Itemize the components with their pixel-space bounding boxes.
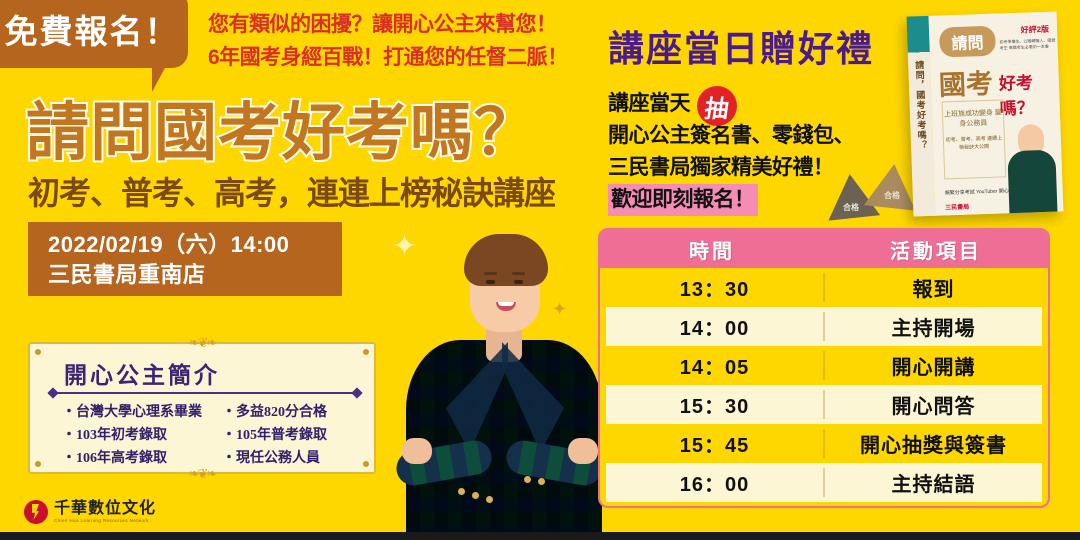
book-panel-line-1: 上班族成功變身 變身公務員 bbox=[943, 108, 1004, 130]
table-row: 14：00 主持開場 bbox=[606, 307, 1042, 346]
speaker-profile-card: ❧❦❧ ❧❦❧ 開心公主簡介 ‧台灣大學心理系畢業 ‧多益820分合格 ‧103… bbox=[28, 342, 376, 474]
body bbox=[1007, 150, 1057, 214]
event-datetime-box: 2022/02/19（六）14:00 三民書局重南店 bbox=[28, 222, 342, 296]
book-edition-badge: 好評2版 bbox=[1020, 24, 1049, 36]
table-row: 13：30 報到 bbox=[606, 268, 1042, 307]
bottom-bar bbox=[0, 532, 1080, 540]
hook-line-2: 6年國考身經百戰！打通您的任督二脈！ bbox=[208, 41, 598, 74]
book-cover-image: 請問，國考好考嗎？ 請問 好評2版 初考準備生、公職轉職人、國營考生 高職考生必… bbox=[907, 11, 1064, 216]
book-panel-line-2: 初考、普考、高考 連續上榜秘訣大公開 bbox=[944, 134, 1005, 152]
list-item: ‧103年初考錄取 bbox=[62, 425, 222, 447]
gift-heading: 講座當日贈好禮 bbox=[608, 20, 874, 72]
promo-banner: 免費報名！ 您有類似的困擾？讓開心公主來幫您！ 6年國考身經百戰！打通您的任督二… bbox=[0, 0, 1080, 540]
eyebrow-right bbox=[512, 272, 525, 275]
event-datetime: 2022/02/19（六）14:00 bbox=[48, 230, 342, 260]
hook-text-block: 您有類似的困擾？讓開心公主來幫您！ 6年國考身經百戰！打通您的任督二脈！ bbox=[208, 8, 598, 74]
gift-line-1: 講座當天 bbox=[608, 88, 690, 120]
button-icon bbox=[524, 476, 531, 483]
cell-time: 15：45 bbox=[606, 429, 825, 458]
book-publisher: 三民書局 bbox=[945, 202, 969, 212]
book-bubble-badge: 請問 bbox=[939, 26, 996, 58]
list-item: ‧台灣大學心理系畢業 bbox=[62, 402, 222, 424]
book-title-main: 國考 bbox=[938, 62, 993, 103]
pouch-label: 合格 bbox=[884, 190, 900, 201]
cell-activity: 開心開講 bbox=[825, 351, 1042, 380]
schedule-table: 時間 活動項目 13：30 報到 14：00 主持開場 14：05 開心開講 1… bbox=[598, 228, 1050, 508]
button-icon bbox=[486, 496, 493, 503]
lucky-draw-label: 抽 bbox=[703, 89, 732, 124]
cell-activity: 主持開場 bbox=[825, 312, 1042, 341]
cell-activity: 主持結語 bbox=[825, 468, 1042, 497]
corner-dot bbox=[35, 349, 41, 355]
speaker-photo bbox=[398, 210, 608, 540]
list-item: ‧106年高考錄取 bbox=[62, 448, 222, 470]
publisher-logo: 千華數位文化 Chien Hua Learning Resources Netw… bbox=[24, 500, 156, 524]
logo-name-en: Chien Hua Learning Resources Network bbox=[54, 517, 156, 524]
cell-activity: 報到 bbox=[825, 273, 1042, 302]
hair-top bbox=[464, 234, 548, 286]
table-row: 15：30 開心問答 bbox=[606, 385, 1042, 424]
free-signup-label: 免費報名！ bbox=[5, 5, 180, 53]
hook-line-1: 您有類似的困擾？讓開心公主來幫您！ bbox=[208, 8, 598, 41]
book-detail-panel: 上班族成功變身 變身公務員 初考、普考、高考 連續上榜秘訣大公開 bbox=[942, 99, 1007, 179]
logo-name-cn: 千華數位文化 bbox=[54, 500, 156, 517]
eyebrow-left bbox=[484, 272, 497, 275]
cell-time: 14：00 bbox=[606, 312, 825, 341]
hand-left bbox=[402, 438, 432, 464]
page-subtitle: 初考、普考、高考，連連上榜秘訣講座 bbox=[28, 168, 555, 214]
logo-text: 千華數位文化 Chien Hua Learning Resources Netw… bbox=[54, 500, 156, 524]
table-row: 16：00 主持結語 bbox=[606, 463, 1042, 502]
cell-time: 15：30 bbox=[606, 390, 825, 419]
cell-time: 16：00 bbox=[606, 468, 825, 497]
profile-divider bbox=[52, 392, 358, 394]
eye-right bbox=[514, 280, 523, 284]
book-spine-title: 請問，國考好考嗎？ bbox=[913, 60, 929, 150]
table-header-row: 時間 活動項目 bbox=[600, 230, 1048, 268]
book-front: 請問 好評2版 初考準備生、公職轉職人、國營考生 高職考生必看的一本書 國考 好… bbox=[929, 11, 1064, 215]
column-header-activity: 活動項目 bbox=[824, 230, 1048, 268]
cell-activity: 開心抽獎與簽書 bbox=[825, 429, 1042, 458]
eye-left bbox=[486, 280, 495, 284]
column-header-time: 時間 bbox=[600, 230, 824, 268]
corner-dot bbox=[363, 461, 369, 467]
event-venue: 三民書局重南店 bbox=[48, 260, 342, 290]
cell-activity: 開心問答 bbox=[825, 390, 1042, 419]
gift-line-2: 開心公主簽名書、零錢包、 bbox=[608, 120, 854, 152]
list-item: ‧105年普考錄取 bbox=[222, 425, 362, 447]
book-kicker-text: 初考準備生、公職轉職人、國營考生 高職考生必看的一本書 bbox=[999, 37, 1055, 51]
corner-dot bbox=[35, 461, 41, 467]
list-item: ‧現任公務人員 bbox=[222, 448, 362, 470]
hand-right bbox=[568, 438, 598, 464]
book-author-photo bbox=[1002, 111, 1061, 213]
button-icon bbox=[458, 488, 465, 495]
gift-line-4-highlight: 歡迎即刻報名！ bbox=[608, 184, 758, 216]
chienhua-logo-icon bbox=[24, 500, 48, 524]
lucky-draw-badge: 抽 bbox=[697, 86, 737, 126]
book-bubble-label: 請問 bbox=[951, 29, 984, 54]
table-row: 14：05 開心開講 bbox=[606, 346, 1042, 385]
cell-time: 13：30 bbox=[606, 273, 825, 302]
gift-line-3: 三民書局獨家精美好禮！ bbox=[608, 152, 834, 184]
profile-credentials-list: ‧台灣大學心理系畢業 ‧多益820分合格 ‧103年初考錄取 ‧105年普考錄取… bbox=[62, 402, 362, 470]
cell-time: 14：05 bbox=[606, 351, 825, 380]
profile-title: 開心公主簡介 bbox=[64, 356, 220, 390]
free-signup-badge: 免費報名！ bbox=[0, 0, 188, 68]
pouch-label: 合格 bbox=[843, 202, 859, 213]
button-icon bbox=[538, 478, 545, 485]
button-icon bbox=[472, 492, 479, 499]
table-row: 15：45 開心抽獎與簽書 bbox=[606, 424, 1042, 463]
page-title: 請問國考好考嗎？ bbox=[26, 82, 538, 173]
ornament-flourish-top: ❧❦❧ bbox=[189, 336, 216, 349]
corner-dot bbox=[363, 349, 369, 355]
list-item: ‧多益820分合格 bbox=[222, 402, 362, 424]
